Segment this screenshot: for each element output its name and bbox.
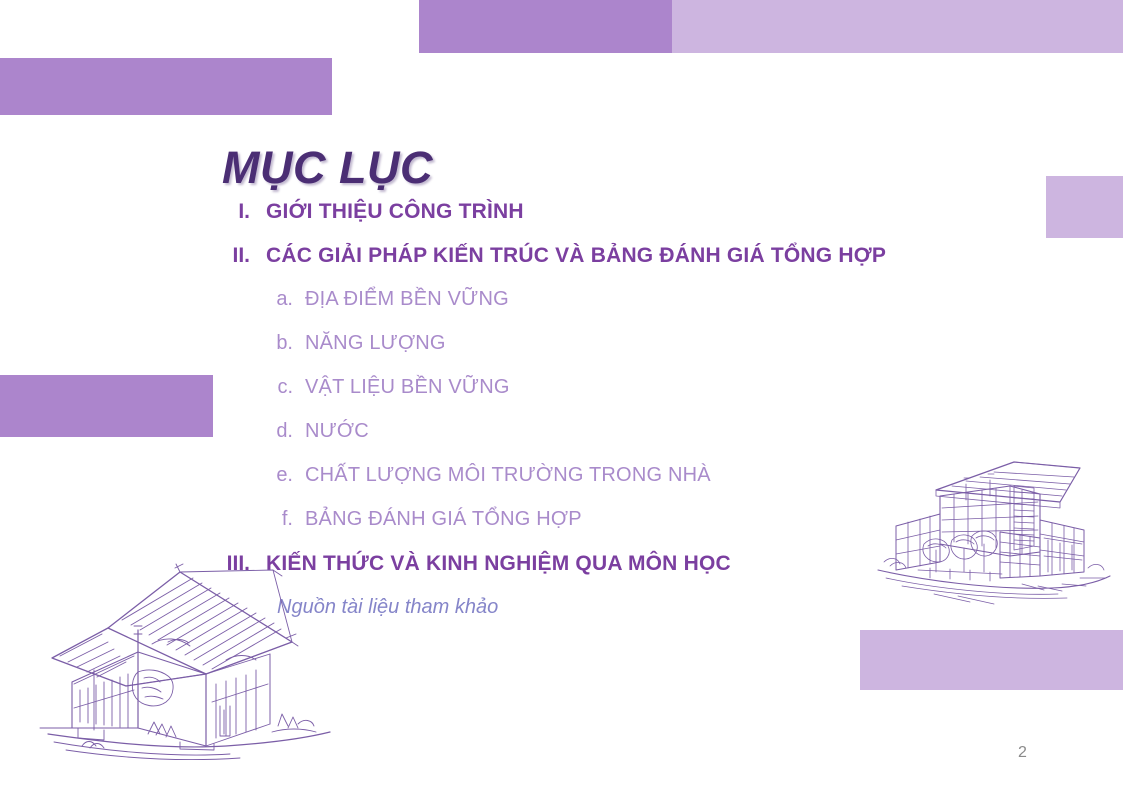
toc-marker: I. [0,200,250,224]
toc-label: NƯỚC [305,420,369,443]
left-upper-bar [0,58,332,115]
toc-marker: II. [0,244,250,268]
traditional-house-sketch [30,550,350,770]
toc-item-1[interactable]: I. GIỚI THIỆU CÔNG TRÌNH [0,200,1000,244]
modern-building-sketch [862,444,1117,614]
toc-label: BẢNG ĐÁNH GIÁ TỔNG HỢP [305,508,582,531]
toc-label: CHẤT LƯỢNG MÔI TRƯỜNG TRONG NHÀ [305,464,711,487]
toc-item-2a[interactable]: a. ĐỊA ĐIỂM BỀN VỮNG [0,288,1000,332]
toc-label: GIỚI THIỆU CÔNG TRÌNH [266,200,524,224]
toc-item-2[interactable]: II. CÁC GIẢI PHÁP KIẾN TRÚC VÀ BẢNG ĐÁNH… [0,244,1000,288]
toc-item-2b[interactable]: b. NĂNG LƯỢNG [0,332,1000,376]
toc-label: CÁC GIẢI PHÁP KIẾN TRÚC VÀ BẢNG ĐÁNH GIÁ… [266,244,886,268]
toc-item-2c[interactable]: c. VẬT LIỆU BỀN VỮNG [0,376,1000,420]
toc-label: NĂNG LƯỢNG [305,332,446,355]
toc-item-2e[interactable]: e. CHẤT LƯỢNG MÔI TRƯỜNG TRONG NHÀ [0,464,1000,508]
toc-item-2f[interactable]: f. BẢNG ĐÁNH GIÁ TỔNG HỢP [0,508,1000,552]
right-small-block [1046,176,1123,238]
toc-label: VẬT LIỆU BỀN VỮNG [305,376,510,399]
slide-canvas: MỤC LỤC I. GIỚI THIỆU CÔNG TRÌNH II. CÁC… [0,0,1123,794]
toc-marker: f. [0,508,293,531]
toc-marker: d. [0,420,293,443]
toc-marker: e. [0,464,293,487]
top-light-bar [672,0,1123,53]
toc-label: ĐỊA ĐIỂM BỀN VỮNG [305,288,509,311]
page-title: MỤC LỤC [222,142,433,194]
toc-marker: a. [0,288,293,311]
toc-marker: c. [0,376,293,399]
page-number: 2 [1018,744,1027,762]
toc-item-2d[interactable]: d. NƯỚC [0,420,1000,464]
top-dark-bar [419,0,672,53]
toc-marker: b. [0,332,293,355]
